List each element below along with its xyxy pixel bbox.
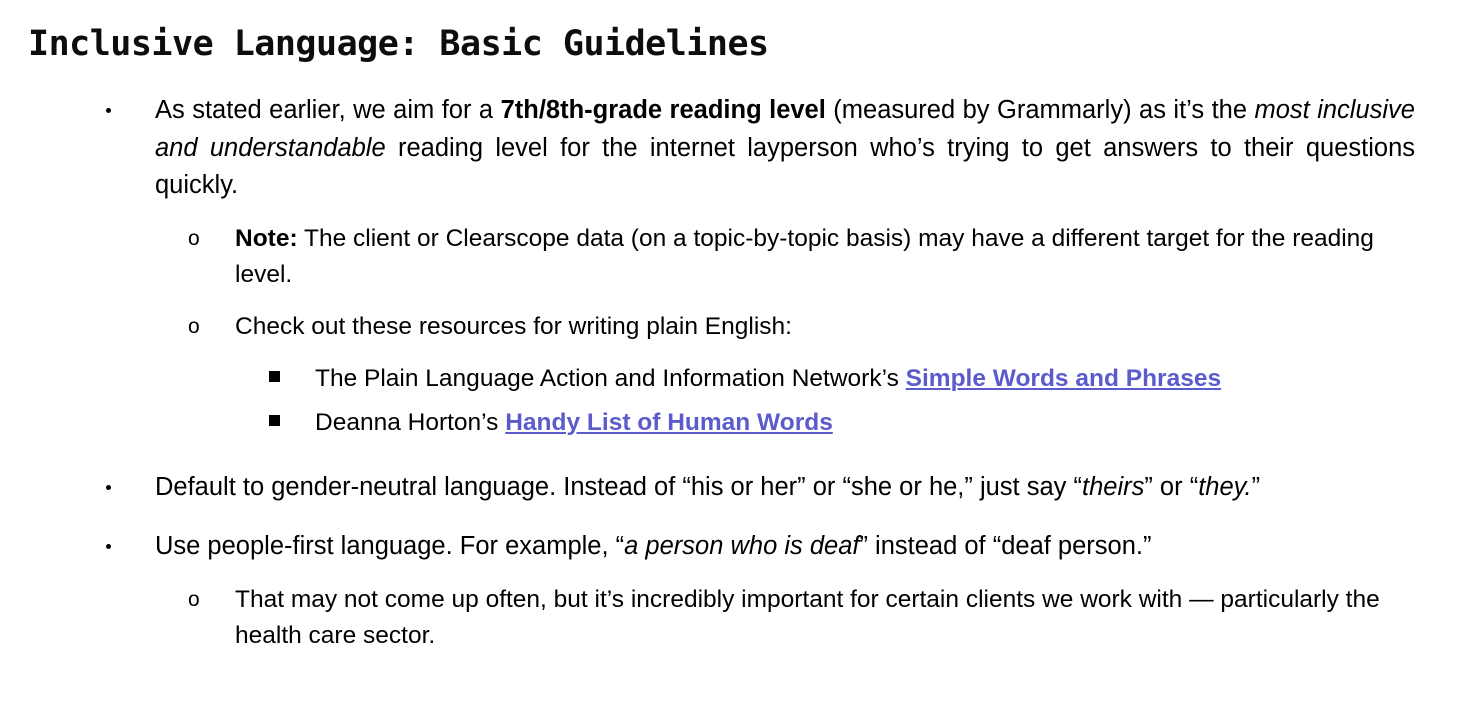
page-title: Inclusive Language: Basic Guidelines	[28, 22, 769, 66]
list-item: The Plain Language Action and Informatio…	[0, 361, 1480, 397]
list-item-text: The Plain Language Action and Informatio…	[315, 365, 1221, 392]
list-item-text: Check out these resources for writing pl…	[235, 313, 792, 340]
text-segment: Use people-first language. For example, …	[155, 532, 624, 560]
bullet-marker-level3	[269, 405, 280, 441]
text-italic: a person who is deaf	[624, 532, 859, 560]
link-handy-list-of-human-words[interactable]: Handy List of Human Words	[505, 409, 833, 436]
list-item: Default to gender-neutral language. Inst…	[0, 469, 1480, 507]
bullet-marker-level1	[106, 469, 111, 507]
text-segment: ” or “	[1144, 473, 1198, 501]
bullet-marker-level1	[106, 92, 111, 130]
text-italic: theirs	[1082, 473, 1144, 501]
slide-canvas: Inclusive Language: Basic Guidelines As …	[0, 0, 1480, 716]
text-segment: (measured by Grammarly) as it’s the	[826, 96, 1255, 124]
slide-body: As stated earlier, we aim for a 7th/8th-…	[0, 92, 1480, 660]
bullet-square-icon	[269, 415, 280, 426]
list-item-text: That may not come up often, but it’s inc…	[235, 586, 1380, 649]
text-segment: As stated earlier, we aim for a	[155, 96, 501, 124]
list-item-text: Default to gender-neutral language. Inst…	[155, 473, 1260, 501]
list-item-text: Use people-first language. For example, …	[155, 532, 1151, 560]
bullet-dot-icon	[106, 108, 111, 113]
text-italic: they.	[1198, 473, 1251, 501]
bullet-square-icon	[269, 371, 280, 382]
list-item-text: As stated earlier, we aim for a 7th/8th-…	[155, 96, 1415, 199]
list-item: Use people-first language. For example, …	[0, 528, 1480, 566]
text-segment: ” instead of “deaf person.”	[859, 532, 1151, 560]
text-segment: ”	[1252, 473, 1261, 501]
text-bold: Note:	[235, 225, 298, 252]
text-segment: The Plain Language Action and Informatio…	[315, 365, 906, 392]
bullet-dot-icon	[106, 485, 111, 490]
bullet-marker-level2: o	[188, 582, 200, 618]
bullet-marker-level3	[269, 361, 280, 397]
list-item-text: Deanna Horton’s Handy List of Human Word…	[315, 409, 833, 436]
list-item: As stated earlier, we aim for a 7th/8th-…	[0, 92, 1480, 205]
text-segment: Default to gender-neutral language. Inst…	[155, 473, 1082, 501]
list-item: o Note: The client or Clearscope data (o…	[0, 221, 1480, 293]
text-bold: 7th/8th-grade reading level	[501, 96, 826, 124]
bullet-marker-level1	[106, 528, 111, 566]
text-segment: Deanna Horton’s	[315, 409, 505, 436]
link-simple-words-and-phrases[interactable]: Simple Words and Phrases	[906, 365, 1221, 392]
list-item-text: Note: The client or Clearscope data (on …	[235, 225, 1374, 288]
text-segment: The client or Clearscope data (on a topi…	[235, 225, 1374, 288]
list-item: o Check out these resources for writing …	[0, 309, 1480, 345]
bullet-marker-level2: o	[188, 221, 200, 257]
bullet-dot-icon	[106, 544, 111, 549]
list-item: Deanna Horton’s Handy List of Human Word…	[0, 405, 1480, 441]
list-item: o That may not come up often, but it’s i…	[0, 582, 1480, 654]
bullet-marker-level2: o	[188, 309, 200, 345]
